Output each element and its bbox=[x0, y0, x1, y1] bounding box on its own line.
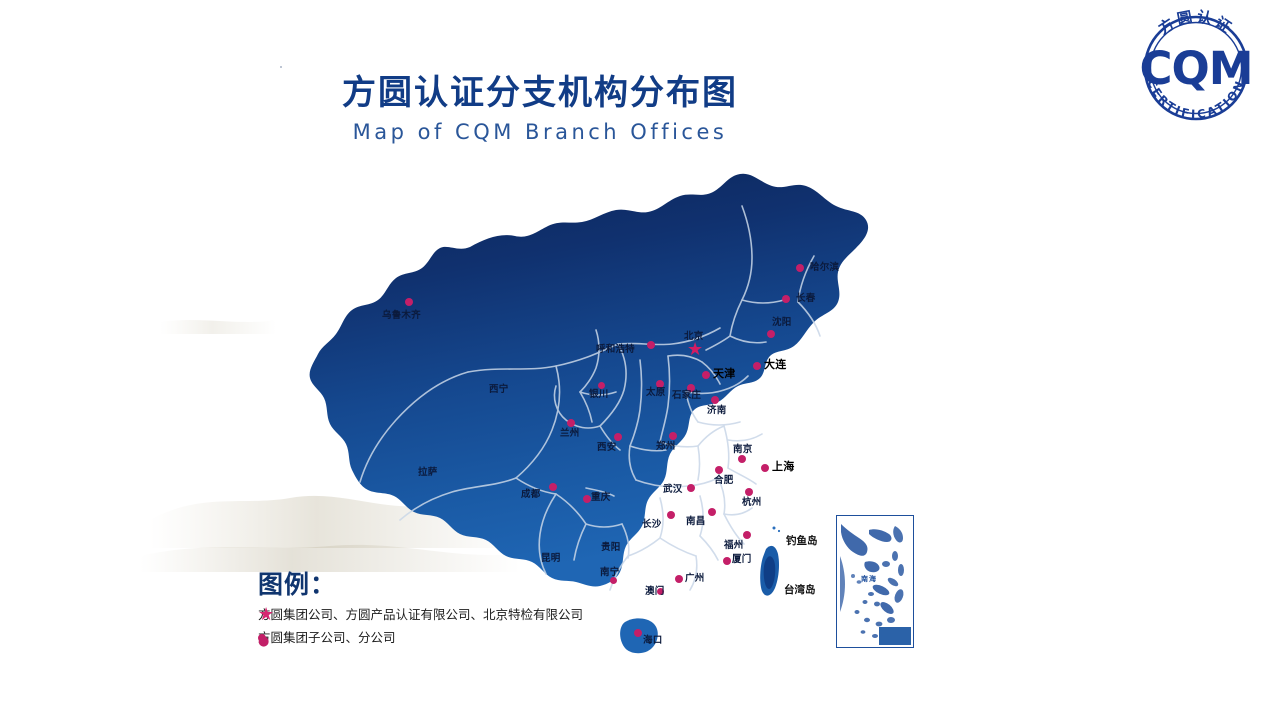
inset-scale-bar bbox=[879, 627, 911, 645]
south-china-sea-inset: 南海 bbox=[836, 515, 914, 648]
city-dot-jinan[interactable] bbox=[711, 396, 719, 404]
city-dot-wuhan[interactable] bbox=[687, 484, 695, 492]
city-dot-hangzhou[interactable] bbox=[745, 488, 753, 496]
legend-item-subsidiary-label: 方圆集团子公司、分公司 bbox=[258, 630, 396, 646]
legend: 图例： ★ 方圆集团公司、方圆产品认证有限公司、北京特检有限公司 ● 方圆集团子… bbox=[258, 570, 678, 646]
city-dot-yinchuan[interactable] bbox=[598, 382, 605, 389]
city-dot-chengdu[interactable] bbox=[549, 483, 557, 491]
slide-canvas: 方圆认证分支机构分布图 Map of CQM Branch Offices 方圆… bbox=[0, 0, 1280, 720]
capital-star-icon: ★ bbox=[687, 341, 703, 359]
city-dot-shanghai[interactable] bbox=[761, 464, 769, 472]
city-dot-wulumuqi[interactable] bbox=[405, 298, 413, 306]
city-dot-nanchang[interactable] bbox=[708, 508, 716, 516]
island-label-taiwandao: 台湾岛 bbox=[784, 582, 816, 597]
city-dot-chongqing[interactable] bbox=[583, 495, 591, 503]
legend-item-subsidiary: ● 方圆集团子公司、分公司 bbox=[258, 630, 678, 646]
city-dot-taiyuan[interactable] bbox=[656, 380, 664, 388]
legend-item-headquarters-label: 方圆集团公司、方圆产品认证有限公司、北京特检有限公司 bbox=[258, 607, 583, 623]
star-icon: ★ bbox=[258, 606, 272, 624]
legend-item-headquarters: ★ 方圆集团公司、方圆产品认证有限公司、北京特检有限公司 bbox=[258, 607, 678, 623]
city-dot-shijiazhuang[interactable] bbox=[687, 384, 695, 392]
diaoyu-islets bbox=[773, 527, 781, 533]
dot-icon: ● bbox=[258, 634, 266, 642]
city-dot-changchun[interactable] bbox=[782, 295, 790, 303]
legend-heading: 图例： bbox=[258, 570, 678, 600]
inset-sea-label: 南海 bbox=[861, 574, 877, 584]
island-label-diaoyudao: 钓鱼岛 bbox=[786, 533, 818, 548]
city-dot-zhengzhou[interactable] bbox=[669, 432, 677, 440]
city-dot-nanjing[interactable] bbox=[738, 455, 746, 463]
city-dot-shenyang[interactable] bbox=[767, 330, 775, 338]
city-dot-tianjin[interactable] bbox=[702, 371, 710, 379]
city-dot-huhehaote[interactable] bbox=[647, 341, 655, 349]
city-dot-lanzhou[interactable] bbox=[567, 419, 575, 427]
city-dot-haerbin[interactable] bbox=[796, 264, 804, 272]
city-dot-xian[interactable] bbox=[614, 433, 622, 441]
city-dot-fuzhou[interactable] bbox=[743, 531, 751, 539]
city-dot-hefei[interactable] bbox=[715, 466, 723, 474]
city-dot-xiamen[interactable] bbox=[723, 557, 731, 565]
city-dot-dalian[interactable] bbox=[753, 362, 761, 370]
city-dot-changsha[interactable] bbox=[667, 511, 675, 519]
